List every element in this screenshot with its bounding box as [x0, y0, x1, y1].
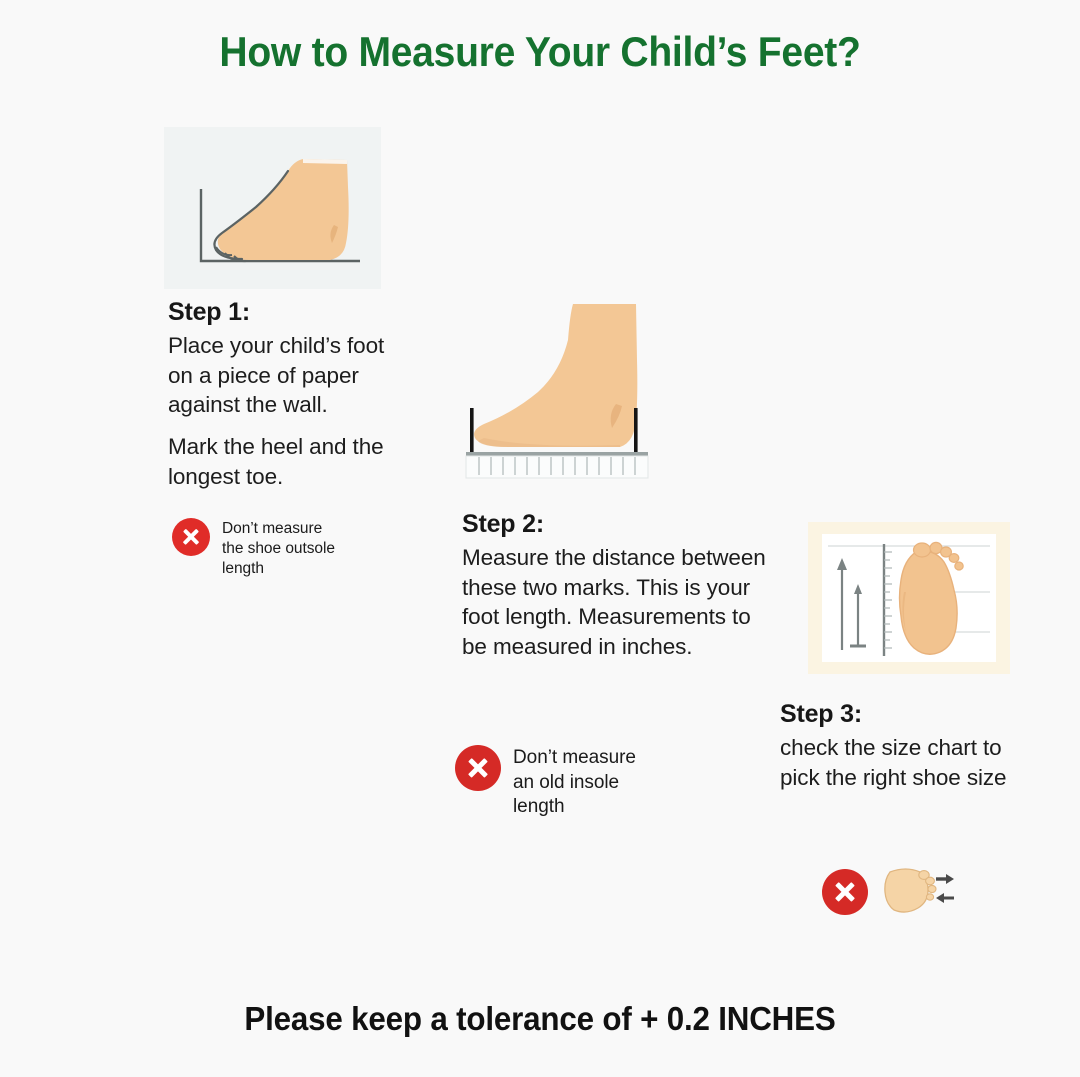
footprint-squeeze-graphic: [880, 860, 956, 918]
step2-heading: Step 2:: [462, 510, 774, 539]
step3-body: check the size chart to pick the right s…: [780, 733, 1020, 792]
step2-paragraph-1: Measure the distance between these two m…: [462, 543, 774, 662]
toe-mark: [470, 408, 474, 452]
step1-paragraph-2: Mark the heel and the longest toe.: [168, 432, 400, 491]
step1-paragraph-1: Place your child’s foot on a piece of pa…: [168, 331, 400, 420]
red-x-circle-icon: [172, 518, 210, 556]
foot-on-ruler-illustration: [460, 300, 685, 485]
step3-chart-area: [822, 534, 996, 662]
step2-body: Measure the distance between these two m…: [462, 543, 774, 662]
step1-warning: Don’t measure the shoe outsole length: [172, 518, 372, 579]
foot-against-wall-illustration: [164, 127, 381, 289]
step2-image-panel: [460, 300, 685, 485]
page-title: How to Measure Your Child’s Feet?: [38, 28, 1042, 76]
red-x-circle-icon: [822, 869, 868, 915]
tolerance-note: Please keep a tolerance of + 0.2 INCHES: [27, 1000, 1053, 1038]
step1-body: Place your child’s foot on a piece of pa…: [168, 331, 400, 491]
infographic-canvas: How to Measure Your Child’s Feet? Step 1…: [0, 0, 1080, 1077]
step3-paragraph-1: check the size chart to pick the right s…: [780, 733, 1020, 792]
step2-warning-line-2: an old insole: [513, 771, 636, 796]
step3-text-block: Step 3: check the size chart to pick the…: [780, 700, 1020, 792]
step2-text-block: Step 2: Measure the distance between the…: [462, 510, 774, 662]
step3-warning: [822, 860, 972, 923]
step1-heading: Step 1:: [168, 298, 400, 327]
step2-warning: Don’t measure an old insole length: [455, 745, 675, 820]
step1-text-block: Step 1: Place your child’s foot on a pie…: [168, 298, 400, 491]
step2-warning-text: Don’t measure an old insole length: [513, 745, 636, 820]
red-x-circle-icon: [455, 745, 501, 791]
step3-image-card: [808, 522, 1010, 674]
footprint-sole: [900, 542, 964, 654]
step1-warning-line-1: Don’t measure: [222, 519, 335, 539]
heel-mark: [634, 408, 638, 452]
vertical-ruler-ticks: [884, 552, 892, 648]
step1-image-panel: [164, 127, 381, 289]
footprint-squeeze-arrows-icon: [880, 860, 956, 923]
step1-warning-line-2: the shoe outsole: [222, 539, 335, 559]
step1-warning-text: Don’t measure the shoe outsole length: [222, 518, 335, 579]
step2-warning-line-3: length: [513, 795, 636, 820]
step3-heading: Step 3:: [780, 700, 1020, 729]
step1-warning-line-3: length: [222, 559, 335, 579]
footprint-measuring-chart-illustration: [822, 534, 996, 662]
step2-warning-line-1: Don’t measure: [513, 746, 636, 771]
